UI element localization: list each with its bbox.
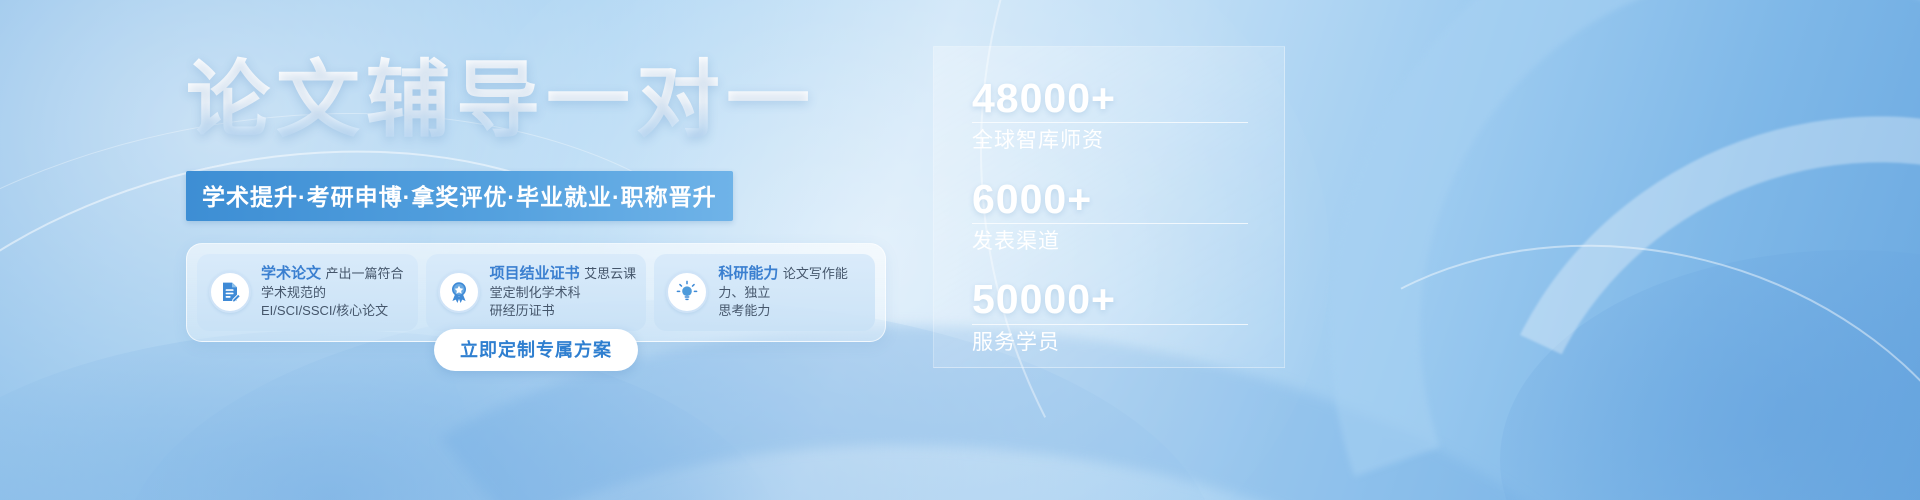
stat-number: 6000+ — [972, 178, 1248, 221]
customize-plan-button[interactable]: 立即定制专属方案 — [434, 329, 638, 371]
stat-label: 全球智库师资 — [972, 128, 1248, 153]
stat-label: 服务学员 — [972, 330, 1248, 355]
feature-card-text: 项目结业证书 艾思云课堂定制化学术科 研经历证书 — [490, 265, 637, 320]
feature-desc-line-2: 研经历证书 — [490, 303, 555, 318]
feature-card-certificate[interactable]: 项目结业证书 艾思云课堂定制化学术科 研经历证书 — [426, 254, 647, 331]
feature-card-title: 学术论文 — [261, 265, 321, 282]
feature-card-text: 科研能力 论文写作能力、独立 思考能力 — [718, 265, 865, 320]
document-edit-icon — [209, 271, 251, 313]
feature-card-title: 项目结业证书 — [490, 265, 580, 282]
feature-card-group: 学术论文 产出一篇符合学术规范的 EI/SCI/SSCI/核心论文 — [186, 243, 886, 342]
stat-item-students: 50000+ 服务学员 — [972, 278, 1248, 355]
swoosh-arc-right-thick — [1178, 0, 1920, 500]
swoosh-arc-right-inner — [1383, 11, 1920, 500]
feature-desc-line-2: 思考能力 — [718, 303, 770, 318]
lightbulb-icon — [666, 271, 708, 313]
page-title: 论文辅导一对一 — [186, 56, 906, 145]
stats-panel: 48000+ 全球智库师资 6000+ 发表渠道 50000+ 服务学员 — [933, 46, 1285, 368]
stat-number: 48000+ — [972, 77, 1248, 120]
promo-banner: 论文辅导一对一 学术提升·考研申博·拿奖评优·毕业就业·职称晋升 学术论文 — [0, 0, 1920, 500]
feature-card-research-ability[interactable]: 科研能力 论文写作能力、独立 思考能力 — [654, 254, 875, 331]
stat-number: 50000+ — [972, 278, 1248, 321]
stat-item-mentors: 48000+ 全球智库师资 — [972, 77, 1248, 154]
stat-label: 发表渠道 — [972, 229, 1248, 254]
banner-left-content: 论文辅导一对一 学术提升·考研申博·拿奖评优·毕业就业·职称晋升 学术论文 — [186, 56, 906, 371]
feature-card-academic-paper[interactable]: 学术论文 产出一篇符合学术规范的 EI/SCI/SSCI/核心论文 — [197, 254, 418, 331]
swoosh-line-right-lower — [1177, 165, 1920, 500]
stat-divider — [972, 223, 1248, 224]
subtitle-tagline: 学术提升·考研申博·拿奖评优·毕业就业·职称晋升 — [186, 171, 733, 221]
feature-card-text: 学术论文 产出一篇符合学术规范的 EI/SCI/SSCI/核心论文 — [261, 265, 408, 320]
stat-item-channels: 6000+ 发表渠道 — [972, 178, 1248, 255]
feature-desc-line-2: EI/SCI/SSCI/核心论文 — [261, 303, 388, 318]
stat-divider — [972, 122, 1248, 123]
cta-wrapper: 立即定制专属方案 — [186, 329, 886, 371]
award-medal-icon — [438, 271, 480, 313]
feature-card-title: 科研能力 — [718, 265, 778, 282]
shade-bottom-right — [1500, 250, 1920, 500]
stat-divider — [972, 324, 1248, 325]
